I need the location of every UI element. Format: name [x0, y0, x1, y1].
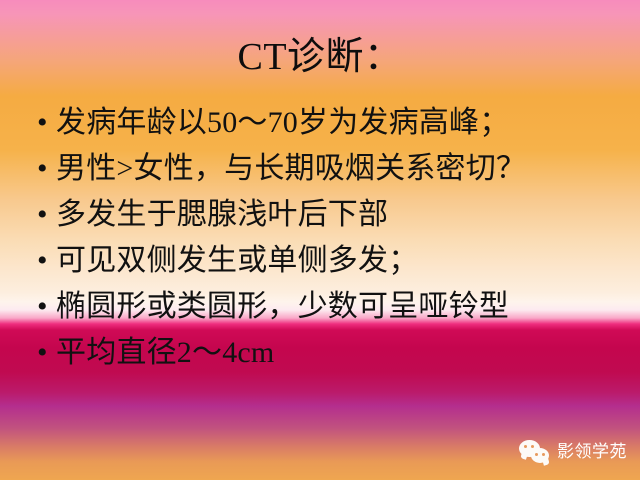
list-item-label: 男性>女性，与长期吸烟关系密切？	[56, 147, 526, 191]
bullet-point-icon: •	[30, 331, 56, 375]
list-item: • 可见双侧发生或单侧多发；	[30, 239, 620, 285]
wechat-icon	[519, 440, 550, 464]
list-item-label: 多发生于腮腺浅叶后下部	[56, 193, 388, 237]
bullet-point-icon: •	[30, 193, 56, 237]
list-item: • 男性>女性，与长期吸烟关系密切？	[30, 147, 620, 193]
bullet-point-icon: •	[30, 285, 56, 329]
list-item-label: 可见双侧发生或单侧多发；	[56, 239, 418, 283]
bullet-list: • 发病年龄以50～70岁为发病高峰； • 男性>女性，与长期吸烟关系密切？ •…	[30, 101, 620, 377]
list-item: • 椭圆形或类圆形，少数可呈哑铃型	[30, 285, 620, 331]
list-item: • 发病年龄以50～70岁为发病高峰；	[30, 101, 620, 147]
list-item: • 多发生于腮腺浅叶后下部	[30, 193, 620, 239]
list-item: • 平均直径2～4cm	[30, 331, 620, 377]
slide-title: CT诊断：	[0, 34, 640, 80]
watermark-label: 影领学苑	[557, 442, 627, 462]
list-item-label: 发病年龄以50～70岁为发病高峰；	[56, 101, 509, 145]
watermark: 影领学苑	[519, 436, 629, 468]
bullet-point-icon: •	[30, 101, 56, 145]
bullet-point-icon: •	[30, 239, 56, 283]
presentation-slide: CT诊断： • 发病年龄以50～70岁为发病高峰； • 男性>女性，与长期吸烟关…	[0, 0, 640, 480]
list-item-label: 平均直径2～4cm	[56, 331, 274, 375]
bullet-point-icon: •	[30, 147, 56, 191]
list-item-label: 椭圆形或类圆形，少数可呈哑铃型	[56, 285, 509, 329]
